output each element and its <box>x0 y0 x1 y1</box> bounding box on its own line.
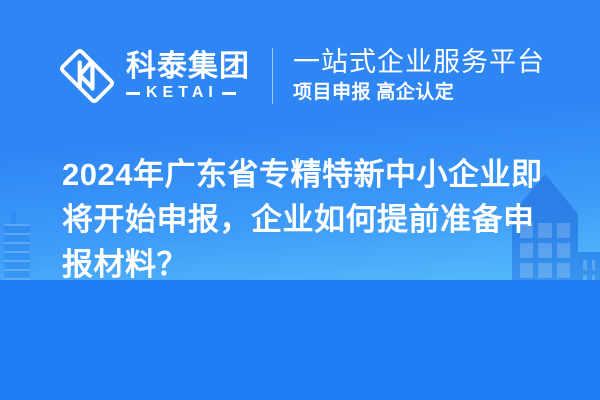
logo-dash-right-icon <box>222 92 236 95</box>
logo-name-en: KETAI <box>146 85 218 101</box>
logo-name-cn: 科泰集团 <box>126 51 250 83</box>
headline-text: 2024年广东省专精特新中小企业即将开始申报，企业如何提前准备申报材料？ <box>62 152 562 287</box>
tagline-secondary: 项目申报 高企认定 <box>293 82 545 105</box>
logo-name-en-row: KETAI <box>126 85 250 101</box>
ketai-logo-icon <box>58 47 116 105</box>
banner-header: 科泰集团 KETAI 一站式企业服务平台 项目申报 高企认定 <box>58 38 574 114</box>
logo-wordmark: 科泰集团 KETAI <box>126 51 250 102</box>
curve-solid-fill <box>0 280 600 400</box>
tagline-primary: 一站式企业服务平台 <box>293 47 545 78</box>
header-divider <box>272 48 273 104</box>
logo-dash-left-icon <box>126 92 140 95</box>
tagline-block: 一站式企业服务平台 项目申报 高企认定 <box>293 47 545 105</box>
banner-canvas: 科泰集团 KETAI 一站式企业服务平台 项目申报 高企认定 2024年广东省专… <box>0 0 600 400</box>
building-left-antenna <box>11 212 16 224</box>
bottom-curve-decoration <box>0 280 600 400</box>
